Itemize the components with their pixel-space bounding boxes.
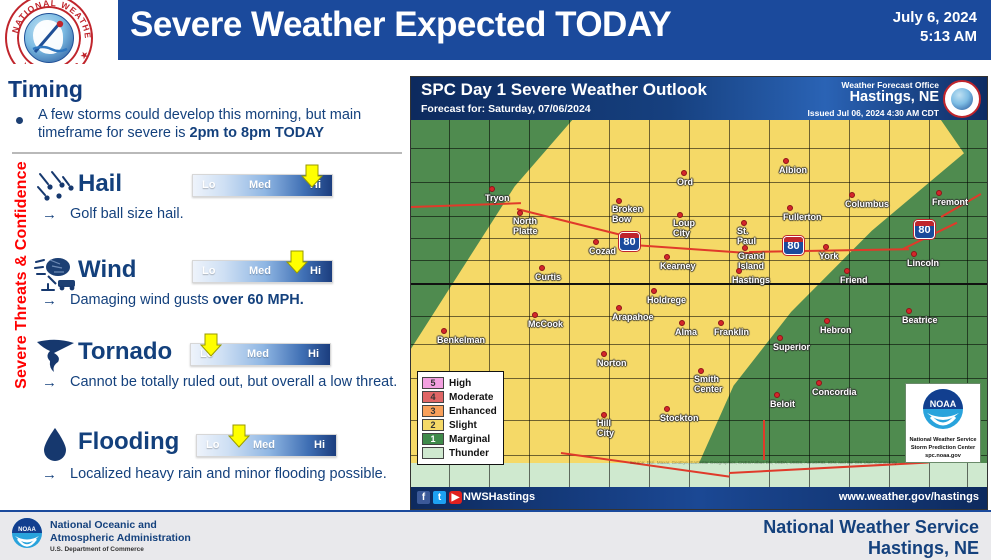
city-dot-icon: [824, 318, 830, 324]
scale-hi-label: Hi: [310, 265, 321, 277]
divider: [12, 152, 402, 154]
city-dot-icon: [777, 335, 783, 341]
noaa-line1: National Oceanic and: [50, 519, 191, 532]
city-dot-icon: [664, 406, 670, 412]
scale-hi-label: Hi: [308, 348, 319, 360]
map-attribution: Source: Esri, Maxar, GeoEye, Earthstar G…: [630, 460, 897, 465]
nws-seal-small-icon: [943, 80, 981, 118]
city-label: Hebron: [820, 325, 852, 335]
city-label: NorthPlatte: [513, 217, 538, 236]
city-dot-icon: [679, 320, 685, 326]
page-footer: NOAA National Oceanic and Atmospheric Ad…: [0, 510, 991, 560]
legend-item: 4Moderate: [422, 390, 497, 404]
flooding-arrow-bullet: →: [42, 466, 57, 483]
wind-detail-bold: over 60 MPH.: [213, 292, 304, 308]
wind-arrow-bullet: →: [42, 292, 57, 309]
city-label: Beatrice: [902, 315, 938, 325]
city-label: Superior: [773, 342, 810, 352]
city-label: Fremont: [932, 197, 968, 207]
city-label: Arapahoe: [612, 312, 654, 322]
highway-line: [763, 420, 765, 460]
facebook-icon[interactable]: f: [417, 491, 430, 504]
city-dot-icon: [651, 288, 657, 294]
city-label: Ord: [677, 177, 693, 187]
legend-item: Thunder: [422, 446, 497, 460]
map-issued: Issued Jul 06, 2024 4:30 AM CDT: [808, 107, 940, 119]
threat-flooding-scale: Lo Med Hi: [196, 434, 337, 457]
scale-med-label: Med: [249, 265, 271, 277]
legend-item: 1Marginal: [422, 432, 497, 446]
city-dot-icon: [774, 392, 780, 398]
city-label: BrokenBow: [612, 205, 643, 224]
city-dot-icon: [718, 320, 724, 326]
city-label: LoupCity: [673, 219, 695, 238]
state-boundary-ne-ks: [411, 283, 987, 285]
city-dot-icon: [823, 244, 829, 250]
city-label: Lincoln: [907, 258, 939, 268]
city-label: York: [819, 251, 838, 261]
legend-label: High: [449, 378, 471, 389]
city-label: GrandIsland: [738, 252, 765, 271]
noaa-department: U.S. Department of Commerce: [50, 546, 144, 553]
noaa-line2: Atmospheric Administration: [50, 532, 191, 545]
timing-text: A few storms could develop this morning,…: [38, 106, 400, 142]
city-label: Benkelman: [437, 335, 485, 345]
wind-level-arrow-icon: [286, 250, 308, 274]
map-title: SPC Day 1 Severe Weather Outlook: [421, 80, 707, 100]
risk-legend: 5High 4Moderate 3Enhanced 2Slight 1Margi…: [417, 371, 504, 465]
map-wfo-block: Weather Forecast Office Hastings, NE Iss…: [808, 79, 940, 119]
legend-swatch-thunder: [422, 447, 444, 459]
legend-label: Slight: [449, 420, 477, 431]
threat-flooding-detail: Localized heavy rain and minor flooding …: [70, 465, 400, 483]
footer-office-line2: Hastings, NE: [763, 538, 979, 559]
hail-icon: [34, 168, 78, 208]
weather-graphic: Severe Weather Expected TODAY July 6, 20…: [0, 0, 991, 560]
interstate-shield-80: 80: [619, 232, 640, 251]
city-dot-icon: [532, 312, 538, 318]
city-label: HillCity: [597, 419, 614, 438]
flooding-level-arrow-icon: [228, 424, 250, 448]
wfo-office: Hastings, NE: [808, 91, 940, 103]
spc-outlook-map[interactable]: SPC Day 1 Severe Weather Outlook Forecas…: [410, 76, 988, 510]
top-banner: Severe Weather Expected TODAY July 6, 20…: [0, 0, 991, 62]
city-dot-icon: [616, 305, 622, 311]
page-title: Severe Weather Expected TODAY: [130, 5, 671, 45]
threat-wind-label: Wind: [78, 256, 136, 284]
city-label: Alma: [675, 327, 697, 337]
city-label: Stockton: [660, 413, 699, 423]
tornado-arrow-bullet: →: [42, 374, 57, 391]
scale-lo-label: Lo: [206, 439, 219, 451]
city-dot-icon: [911, 251, 917, 257]
spc-line1: National Weather Service: [908, 437, 978, 445]
city-dot-icon: [787, 205, 793, 211]
city-label: Holdrege: [647, 295, 686, 305]
city-dot-icon: [816, 380, 822, 386]
threat-hail-detail: Golf ball size hail.: [70, 205, 400, 223]
spc-line2: Storm Prediction Center: [908, 445, 978, 453]
city-dot-icon: [489, 186, 495, 192]
city-label: Curtis: [535, 272, 561, 282]
legend-swatch-enhanced: 3: [422, 405, 444, 417]
scale-lo-label: Lo: [202, 265, 215, 277]
svg-text:NOAA: NOAA: [18, 527, 36, 533]
city-label: Cozad: [589, 246, 616, 256]
banner-datetime: July 6, 2024 5:13 AM: [893, 8, 977, 46]
legend-swatch-slight: 2: [422, 419, 444, 431]
scale-med-label: Med: [249, 179, 271, 191]
footer-office-line1: National Weather Service: [763, 517, 979, 538]
banner-date: July 6, 2024: [893, 8, 977, 27]
interstate-shield-80: 80: [783, 236, 804, 255]
legend-swatch-marginal: 1: [422, 433, 444, 445]
city-label: Tryon: [485, 193, 510, 203]
city-dot-icon: [681, 170, 687, 176]
wind-icon: [34, 254, 78, 294]
map-header: SPC Day 1 Severe Weather Outlook Forecas…: [411, 77, 987, 120]
city-label: Friend: [840, 275, 868, 285]
city-dot-icon: [844, 268, 850, 274]
youtube-icon[interactable]: ▶: [449, 491, 462, 504]
legend-label: Marginal: [449, 434, 490, 445]
scale-med-label: Med: [253, 439, 275, 451]
legend-swatch-high: 5: [422, 377, 444, 389]
tornado-icon: [34, 336, 78, 376]
city-label: Columbus: [845, 199, 889, 209]
city-label: Fullerton: [783, 212, 822, 222]
map-canvas[interactable]: 80 80 80 TryonOrdAlbionBrokenBowLoupCity…: [411, 120, 987, 489]
legend-label: Thunder: [449, 448, 489, 459]
city-label: Franklin: [714, 327, 749, 337]
city-label: Concordia: [812, 387, 857, 397]
hail-level-arrow-icon: [301, 164, 323, 188]
map-footer: f t ▶ NWSHastings www.weather.gov/hastin…: [411, 487, 987, 509]
city-label: Beloit: [770, 399, 795, 409]
social-handle: NWSHastings: [463, 491, 535, 503]
threat-wind-detail: Damaging wind gusts over 60 MPH.: [70, 291, 400, 309]
interstate-shield-80: 80: [914, 220, 935, 239]
noaa-agency-name: National Oceanic and Atmospheric Adminis…: [50, 519, 191, 545]
city-label: Hastings: [732, 275, 770, 285]
threat-tornado-label: Tornado: [78, 338, 172, 366]
svg-text:NOAA: NOAA: [930, 399, 957, 409]
timing-text-bold: 2pm to 8pm TODAY: [190, 125, 325, 141]
city-label: SmithCenter: [694, 375, 723, 394]
threat-wind-scale: Lo Med Hi: [192, 260, 333, 283]
legend-label: Moderate: [449, 392, 493, 403]
scale-hi-label: Hi: [314, 439, 325, 451]
city-dot-icon: [664, 254, 670, 260]
legend-label: Enhanced: [449, 406, 497, 417]
tornado-detail-plain: Cannot be totally ruled out, but overall…: [70, 374, 397, 390]
hail-arrow-bullet: →: [42, 206, 57, 223]
city-dot-icon: [441, 328, 447, 334]
spc-line3: spc.noaa.gov: [908, 453, 978, 459]
scale-lo-label: Lo: [202, 179, 215, 191]
city-dot-icon: [783, 158, 789, 164]
legend-item: 5High: [422, 376, 497, 390]
panel-vertical-label: Severe Threats & Confidence: [13, 125, 35, 425]
city-dot-icon: [736, 268, 742, 274]
city-dot-icon: [906, 308, 912, 314]
city-label: Kearney: [660, 261, 696, 271]
wind-detail-plain: Damaging wind gusts: [70, 292, 213, 308]
flooding-detail-plain: Localized heavy rain and minor flooding …: [70, 466, 387, 482]
city-dot-icon: [601, 351, 607, 357]
spc-attribution-box: NOAA National Weather Service Storm Pred…: [905, 383, 981, 463]
noaa-logo-icon: NOAA: [8, 516, 46, 558]
office-url[interactable]: www.weather.gov/hastings: [839, 491, 979, 503]
hail-detail-plain: Golf ball size hail.: [70, 206, 184, 222]
city-dot-icon: [539, 265, 545, 271]
city-dot-icon: [593, 239, 599, 245]
flooding-icon: [34, 426, 78, 466]
city-dot-icon: [936, 190, 942, 196]
city-label: Albion: [779, 165, 807, 175]
scale-med-label: Med: [247, 348, 269, 360]
threat-hail-label: Hail: [78, 170, 122, 198]
banner-time: 5:13 AM: [893, 27, 977, 46]
city-label: McCook: [528, 319, 563, 329]
map-forecast-for: Forecast for: Saturday, 07/06/2024: [421, 103, 591, 115]
timing-heading: Timing: [8, 76, 83, 103]
city-label: Norton: [597, 358, 627, 368]
city-dot-icon: [849, 192, 855, 198]
legend-item: 2Slight: [422, 418, 497, 432]
tornado-level-arrow-icon: [200, 333, 222, 357]
noaa-logo-icon: NOAA: [918, 387, 968, 437]
footer-office: National Weather Service Hastings, NE: [763, 517, 979, 559]
legend-item: 3Enhanced: [422, 404, 497, 418]
legend-swatch-moderate: 4: [422, 391, 444, 403]
threats-panel: Severe Threats & Confidence Timing A few…: [0, 64, 408, 510]
bullet-icon: [16, 113, 28, 125]
city-label: St.Paul: [737, 227, 756, 246]
twitter-icon[interactable]: t: [433, 491, 446, 504]
threat-tornado-detail: Cannot be totally ruled out, but overall…: [70, 373, 400, 391]
threat-flooding-label: Flooding: [78, 428, 179, 456]
svg-text:NATIONAL WEATHER: NATIONAL WEATHER: [7, 0, 93, 40]
